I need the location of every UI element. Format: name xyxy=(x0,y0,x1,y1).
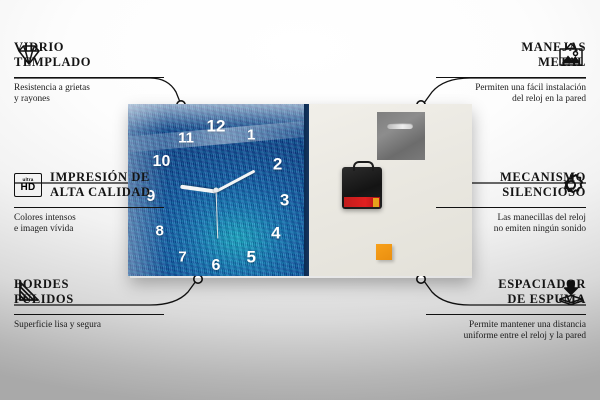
diamond-icon xyxy=(14,42,44,68)
feature-subtitle: Colores intensos e imagen vívida xyxy=(14,213,164,237)
mechanism-hanging-loop xyxy=(353,161,374,171)
product-photo: 12 1 2 3 4 5 6 7 8 9 10 11 xyxy=(128,104,472,276)
clock-numeral-1: 1 xyxy=(247,127,255,142)
clock-numeral-2: 2 xyxy=(273,156,282,173)
feature-rule xyxy=(14,314,164,315)
clock-numeral-6: 6 xyxy=(212,258,221,274)
feature-rule xyxy=(436,77,586,78)
clock-numeral-10: 10 xyxy=(153,154,171,170)
feature-manejas-metal[interactable]: MANEJAS METAL Permiten una fácil instala… xyxy=(436,40,586,106)
feature-rule xyxy=(436,207,586,208)
feature-subtitle: Las manecillas del reloj no emiten ningú… xyxy=(436,213,586,237)
feature-rule xyxy=(14,77,164,78)
feature-vidrio-templado[interactable]: VIDRIO TEMPLADO Resistencia a grietas y … xyxy=(14,40,164,106)
foam-spacer-pad xyxy=(376,244,392,260)
mechanism-chip xyxy=(373,198,379,207)
clock-numeral-5: 5 xyxy=(246,249,255,266)
clock-numeral-11: 11 xyxy=(178,131,194,146)
feature-bordes-pulidos[interactable]: BORDES PULIDOS Superficie lisa y segura xyxy=(14,277,164,331)
feature-mecanismo-silencioso[interactable]: MECANISMO SILENCIOSO Las manecillas del … xyxy=(436,170,586,236)
clock-numeral-4: 4 xyxy=(271,225,280,242)
metal-hanger-plate xyxy=(377,112,425,160)
infographic-canvas: 12 1 2 3 4 5 6 7 8 9 10 11 xyxy=(0,0,600,400)
clock-numeral-7: 7 xyxy=(178,250,186,265)
clock-minute-hand xyxy=(215,170,255,194)
picture-frame-icon xyxy=(556,42,586,68)
clock-center-cap xyxy=(214,188,219,193)
feature-subtitle: Resistencia a grietas y rayones xyxy=(14,83,164,107)
clock-hour-hand xyxy=(180,185,216,194)
foam-spacer-icon xyxy=(556,279,586,305)
gear-icon xyxy=(556,172,586,198)
clock-second-hand xyxy=(215,191,218,239)
hanger-slot xyxy=(387,123,413,129)
clock-numeral-3: 3 xyxy=(280,192,289,209)
polished-edges-icon xyxy=(14,279,44,305)
feature-subtitle: Permite mantener una distancia uniforme … xyxy=(426,320,586,344)
feature-espaciador-espuma[interactable]: ESPACIADOR DE ESPUMA Permite mantener un… xyxy=(426,277,586,343)
feature-impresion-alta-calidad[interactable]: ultra HD IMPRESIÓN DE ALTA CALIDAD Color… xyxy=(14,170,164,236)
feature-title: IMPRESIÓN DE ALTA CALIDAD xyxy=(50,170,151,201)
clock-mechanism xyxy=(342,167,382,209)
ultra-hd-icon: ultra HD xyxy=(14,173,42,197)
feature-subtitle: Superficie lisa y segura xyxy=(14,320,164,332)
hd-icon-large-text: HD xyxy=(20,183,35,193)
feature-rule xyxy=(14,207,164,208)
feature-subtitle: Permiten una fácil instalación del reloj… xyxy=(436,83,586,107)
feature-rule xyxy=(426,314,586,315)
clock-numeral-12: 12 xyxy=(207,118,226,135)
